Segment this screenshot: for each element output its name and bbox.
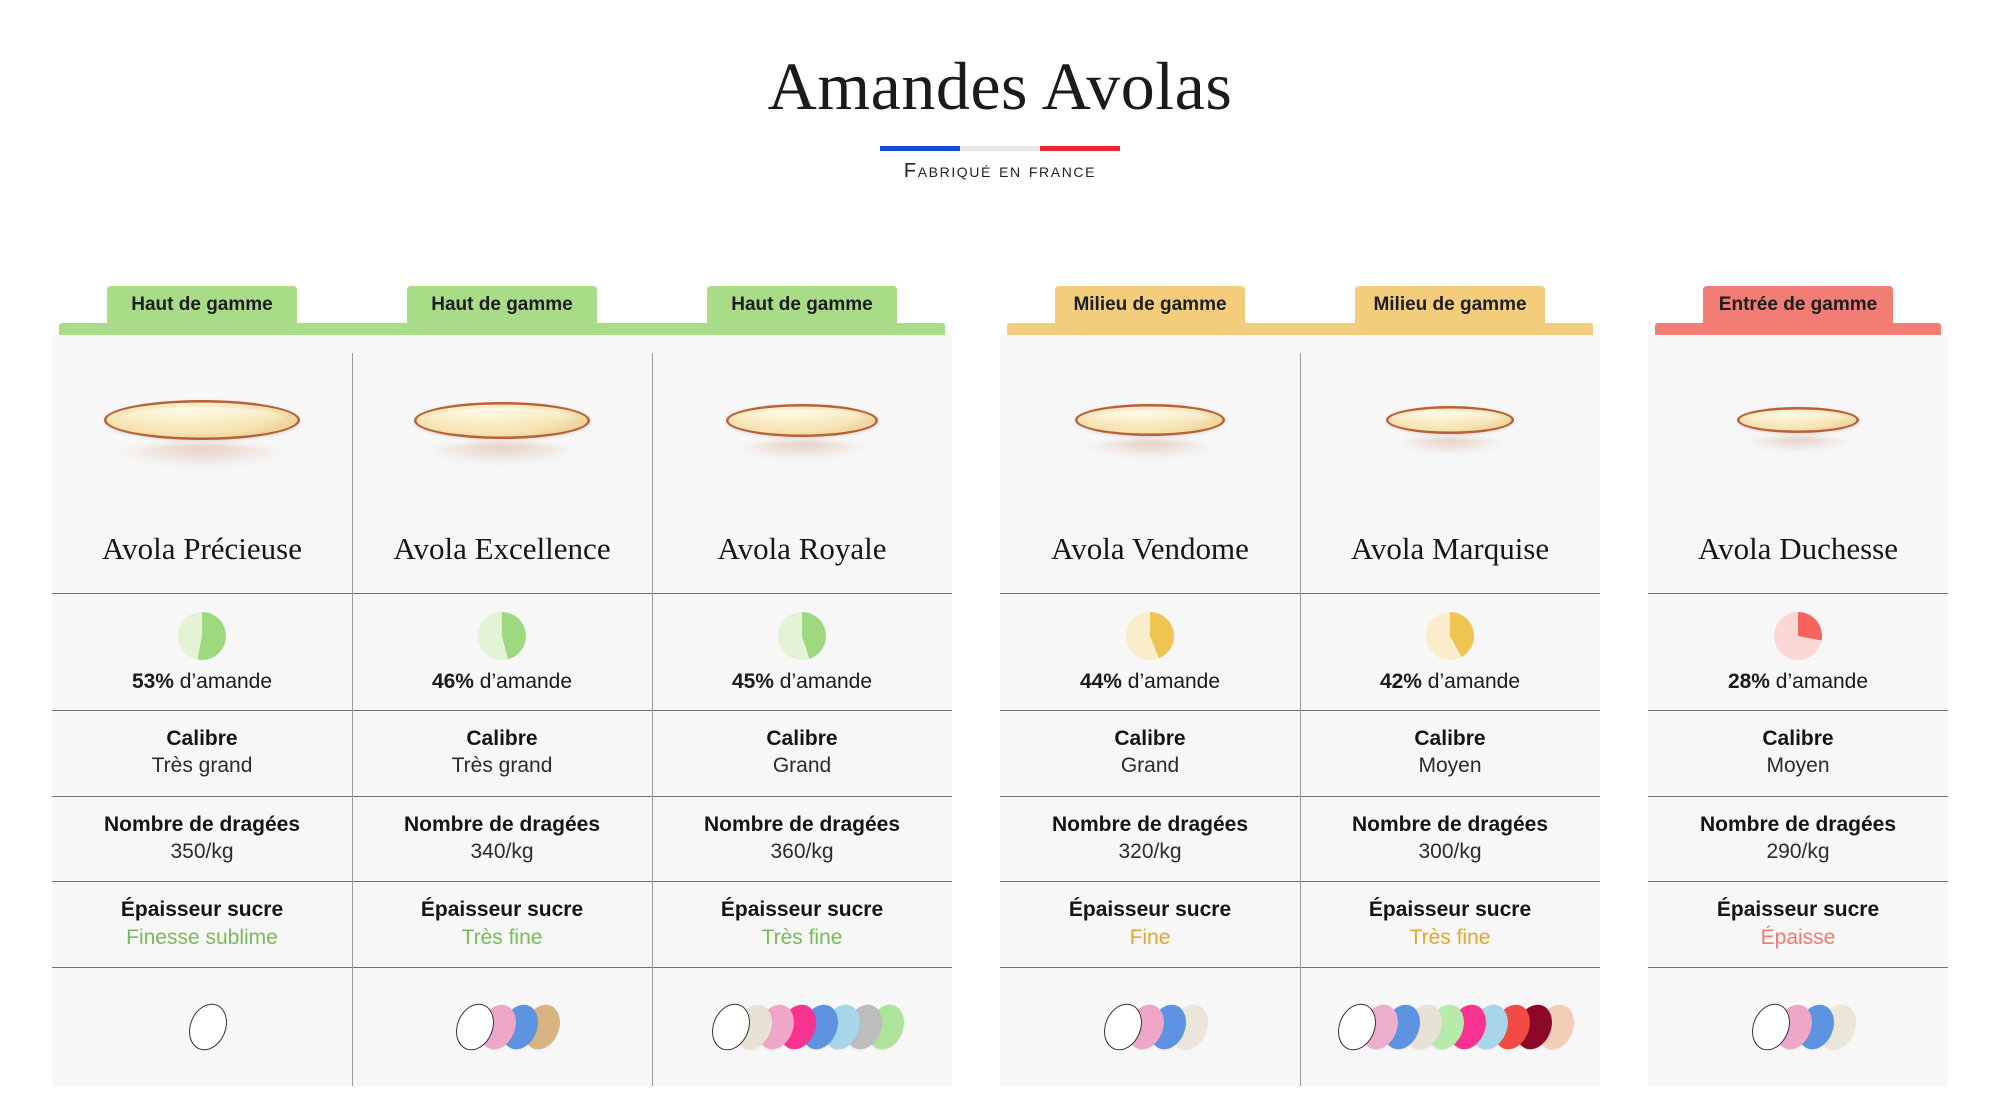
spec-value: Très grand [352,752,652,780]
flag-red-stripe [1040,146,1120,151]
tier-group-milieu: Milieu de gammeMilieu de gammeAvola Vend… [1000,286,1600,1086]
spec-row-epaisseur-sucre: Épaisseur sucreFinesse sublime [52,882,352,967]
almond-percent-label: 53% d’amande [52,670,352,694]
almond-reflection [1394,437,1507,454]
spec-label: Calibre [1300,725,1600,752]
dragee-colors-row [1000,968,1300,1086]
product-card[interactable]: Avola Royale45% d’amandeCalibreGrandNomb… [652,335,952,1086]
spec-row-calibre: CalibreTrès grand [52,711,352,796]
comparison-page: Amandes Avolas Fabriqué en France Haut d… [0,0,2000,1096]
almond-percent-label: 45% d’amande [652,670,952,694]
dragee-colors-row [1648,968,1948,1086]
tier-badge-slot: Haut de gamme [352,286,652,324]
tier-badge-row: Milieu de gammeMilieu de gamme [1000,286,1600,324]
spec-row-calibre: CalibreMoyen [1648,711,1948,796]
spec-value: Très fine [652,924,952,952]
almond-icon [1737,407,1859,459]
spec-label: Nombre de dragées [1300,811,1600,838]
spec-row-nombre-de-dragees: Nombre de dragées360/kg [652,797,952,882]
spec-label: Calibre [52,725,352,752]
almond-percent-suffix: d’amande [474,670,572,693]
almond-content-row: 44% d’amande [1000,594,1300,710]
french-flag-icon [880,146,1120,151]
tier-badge[interactable]: Entrée de gamme [1703,286,1893,324]
product-name: Avola Royale [652,531,952,593]
almond-body [104,400,300,440]
tier-badge[interactable]: Haut de gamme [407,286,597,324]
spec-row-epaisseur-sucre: Épaisseur sucreTrès fine [352,882,652,967]
almond-reflection [1744,436,1851,452]
spec-label: Épaisseur sucre [52,896,352,923]
almond-content-row: 53% d’amande [52,594,352,710]
almond-content-row: 45% d’amande [652,594,952,710]
dragee-swatch-list [1339,1003,1561,1051]
product-name: Avola Marquise [1300,531,1600,593]
spec-value: Moyen [1300,752,1600,780]
spec-value: 290/kg [1648,838,1948,866]
spec-row-calibre: CalibreGrand [652,711,952,796]
spec-value: Grand [1000,752,1300,780]
tier-group-entree: Entrée de gammeAvola Duchesse28% d’amand… [1648,286,1948,1086]
almond-percent-suffix: d’amande [1422,670,1520,693]
spec-value: Très grand [52,752,352,780]
tier-badge-row: Haut de gammeHaut de gammeHaut de gamme [52,286,952,324]
almond-percent-value: 46% [432,670,474,693]
spec-value: Moyen [1648,752,1948,780]
product-name: Avola Duchesse [1648,531,1948,593]
product-name: Avola Excellence [352,531,652,593]
almond-percent-label: 28% d’amande [1648,670,1948,694]
almond-percent-pie-chart [778,612,826,660]
spec-label: Calibre [352,725,652,752]
spec-row-calibre: CalibreGrand [1000,711,1300,796]
spec-value: Grand [652,752,952,780]
almond-percent-suffix: d’amande [1122,670,1220,693]
almond-percent-pie-chart [1426,612,1474,660]
spec-row-epaisseur-sucre: Épaisseur sucreTrès fine [1300,882,1600,967]
product-name: Avola Précieuse [52,531,352,593]
tier-color-bar [59,323,945,335]
almond-percent-suffix: d’amande [174,670,272,693]
flag-white-stripe [960,146,1040,151]
spec-label: Calibre [1648,725,1948,752]
product-card[interactable]: Avola Précieuse53% d’amandeCalibreTrès g… [52,335,352,1086]
product-card[interactable]: Avola Duchesse28% d’amandeCalibreMoyenNo… [1648,335,1948,1086]
dragee-colors-row [52,968,352,1086]
spec-label: Calibre [1000,725,1300,752]
almond-body [414,402,590,439]
spec-row-epaisseur-sucre: Épaisseur sucreTrès fine [652,882,952,967]
tier-badge-slot: Haut de gamme [652,286,952,324]
almond-percent-value: 44% [1080,670,1122,693]
spec-label: Épaisseur sucre [652,896,952,923]
dragee-colors-row [352,968,652,1086]
flag-blue-stripe [880,146,960,151]
almond-percent-pie-chart [478,612,526,660]
page-header: Amandes Avolas Fabriqué en France [0,0,2000,183]
almond-body [1386,406,1514,434]
spec-row-nombre-de-dragees: Nombre de dragées300/kg [1300,797,1600,882]
almond-reflection [1084,439,1216,459]
dragee-swatch-list [457,1003,547,1051]
tier-badge[interactable]: Haut de gamme [707,286,897,324]
spec-label: Épaisseur sucre [352,896,652,923]
spec-label: Nombre de dragées [1000,811,1300,838]
tier-badge[interactable]: Milieu de gamme [1055,286,1245,324]
product-card[interactable]: Avola Excellence46% d’amandeCalibreTrès … [352,335,652,1086]
almond-icon [414,402,590,465]
spec-row-nombre-de-dragees: Nombre de dragées340/kg [352,797,652,882]
spec-label: Épaisseur sucre [1000,896,1300,923]
spec-label: Nombre de dragées [652,811,952,838]
spec-value: Très fine [352,924,652,952]
spec-value: Épaisse [1648,924,1948,952]
almond-percent-value: 28% [1728,670,1770,693]
almond-body [1075,404,1225,436]
almond-content-row: 42% d’amande [1300,594,1600,710]
spec-value: 300/kg [1300,838,1600,866]
product-card[interactable]: Avola Vendome44% d’amandeCalibreGrandNom… [1000,335,1300,1086]
spec-value: 340/kg [352,838,652,866]
almond-icon [1386,406,1514,460]
spec-label: Épaisseur sucre [1300,896,1600,923]
product-card-row: Avola Duchesse28% d’amandeCalibreMoyenNo… [1648,335,1948,1086]
spec-value: 320/kg [1000,838,1300,866]
almond-percent-pie-chart [178,612,226,660]
spec-row-nombre-de-dragees: Nombre de dragées290/kg [1648,797,1948,882]
made-in-france-block: Fabriqué en France [880,146,1120,183]
product-card-row: Avola Vendome44% d’amandeCalibreGrandNom… [1000,335,1600,1086]
almond-image-box [1000,335,1300,531]
spec-row-calibre: CalibreMoyen [1300,711,1600,796]
almond-reflection [425,442,580,465]
almond-content-row: 46% d’amande [352,594,652,710]
almond-percent-value: 53% [132,670,174,693]
almond-icon [1075,404,1225,462]
dragee-swatch-list [190,1003,214,1051]
made-in-label: Fabriqué en France [880,160,1120,183]
tier-badge-slot: Milieu de gamme [1300,286,1600,324]
almond-image-box [352,335,652,531]
almond-body [726,404,878,437]
almond-body [1737,407,1859,433]
dragee-colors-row [652,968,952,1086]
spec-value: 350/kg [52,838,352,866]
almond-percent-suffix: d’amande [774,670,872,693]
almond-percent-value: 42% [1380,670,1422,693]
tier-badge-slot: Entrée de gamme [1648,286,1948,324]
dragee-swatch-list [1753,1003,1843,1051]
almond-image-box [652,335,952,531]
tier-badge[interactable]: Milieu de gamme [1355,286,1545,324]
spec-row-epaisseur-sucre: Épaisseur sucreÉpaisse [1648,882,1948,967]
product-card[interactable]: Avola Marquise42% d’amandeCalibreMoyenNo… [1300,335,1600,1086]
page-title: Amandes Avolas [0,52,2000,120]
spec-row-epaisseur-sucre: Épaisseur sucreFine [1000,882,1300,967]
spec-label: Nombre de dragées [52,811,352,838]
almond-icon [104,400,300,466]
tier-badge-slot: Milieu de gamme [1000,286,1300,324]
tier-group-haut: Haut de gammeHaut de gammeHaut de gammeA… [52,286,952,1086]
dragee-swatch-list [1105,1003,1195,1051]
tier-badge[interactable]: Haut de gamme [107,286,297,324]
almond-reflection [116,443,288,468]
spec-row-calibre: CalibreTrès grand [352,711,652,796]
tier-badge-slot: Haut de gamme [52,286,352,324]
spec-label: Nombre de dragées [1648,811,1948,838]
spec-label: Épaisseur sucre [1648,896,1948,923]
spec-value: Fine [1000,924,1300,952]
almond-icon [726,404,878,463]
product-groups: Haut de gammeHaut de gammeHaut de gammeA… [0,286,2000,1086]
almond-percent-label: 42% d’amande [1300,670,1600,694]
spec-row-nombre-de-dragees: Nombre de dragées320/kg [1000,797,1300,882]
spec-value: 360/kg [652,838,952,866]
almond-image-box [1300,335,1600,531]
dragee-colors-row [1300,968,1600,1086]
spec-value: Très fine [1300,924,1600,952]
almond-percent-value: 45% [732,670,774,693]
tier-color-bar [1655,323,1941,335]
almond-percent-suffix: d’amande [1770,670,1868,693]
tier-color-bar [1007,323,1593,335]
almond-reflection [735,440,869,460]
dragee-swatch-list [713,1003,891,1051]
tier-badge-row: Entrée de gamme [1648,286,1948,324]
almond-image-box [1648,335,1948,531]
product-name: Avola Vendome [1000,531,1300,593]
product-card-row: Avola Précieuse53% d’amandeCalibreTrès g… [52,335,952,1086]
almond-content-row: 28% d’amande [1648,594,1948,710]
spec-row-nombre-de-dragees: Nombre de dragées350/kg [52,797,352,882]
spec-label: Nombre de dragées [352,811,652,838]
spec-value: Finesse sublime [52,924,352,952]
spec-label: Calibre [652,725,952,752]
dragee-swatch [182,998,233,1056]
almond-percent-pie-chart [1774,612,1822,660]
almond-image-box [52,335,352,531]
almond-percent-pie-chart [1126,612,1174,660]
almond-percent-label: 46% d’amande [352,670,652,694]
almond-percent-label: 44% d’amande [1000,670,1300,694]
